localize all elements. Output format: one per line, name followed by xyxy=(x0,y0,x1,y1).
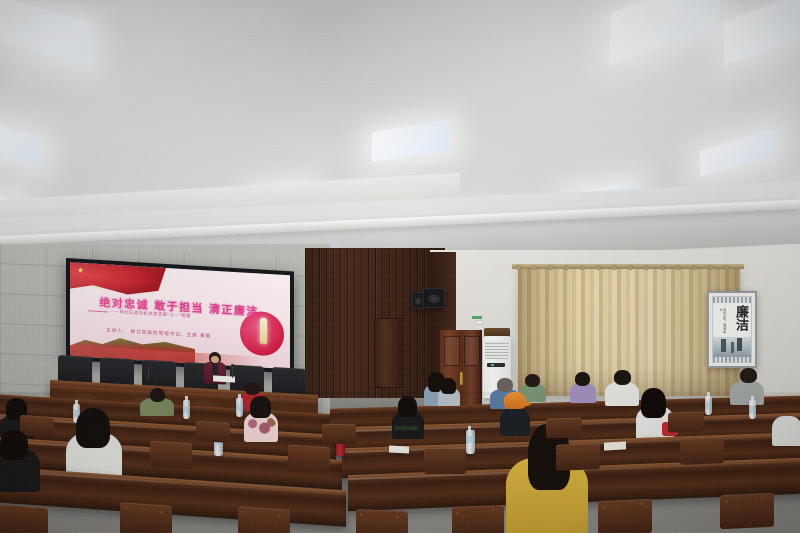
seat-back[interactable] xyxy=(598,499,652,533)
poster-landscape-image xyxy=(713,337,751,357)
seat-back[interactable] xyxy=(668,411,704,432)
person-head xyxy=(740,368,757,383)
seat-back[interactable] xyxy=(356,509,408,533)
person-hair xyxy=(441,378,456,394)
seat-row-back xyxy=(0,396,800,432)
microphone-icon xyxy=(232,366,233,378)
seat-back[interactable] xyxy=(0,504,48,533)
audience-person xyxy=(772,404,800,444)
screen-glare xyxy=(70,262,290,369)
person-head xyxy=(245,382,260,395)
led-screen-bezel[interactable]: ★ 绝对忠诚 敢于担当 清正廉洁 ——柳北区政协机关党支部"七一"党课 主讲人：… xyxy=(66,258,294,374)
exit-sign xyxy=(472,316,482,319)
seat-row-front xyxy=(0,466,800,533)
poster-main-text: 廉洁 xyxy=(734,305,746,331)
presenter-face xyxy=(211,356,219,363)
speaker-cone xyxy=(427,294,440,303)
seat-back[interactable] xyxy=(196,421,230,443)
seat-back[interactable] xyxy=(680,437,724,465)
wall-speaker-icon xyxy=(423,288,445,308)
ac-power-led-icon xyxy=(491,364,494,366)
door-panel xyxy=(464,336,480,366)
seat-back[interactable] xyxy=(424,448,466,474)
microphone-icon xyxy=(148,368,149,380)
speaker-cone xyxy=(415,297,422,305)
curtain-rod xyxy=(512,264,744,269)
seat-back[interactable] xyxy=(720,493,774,529)
seat-back[interactable] xyxy=(452,505,504,533)
seat-back[interactable] xyxy=(546,417,582,438)
person-head xyxy=(614,370,631,385)
person-head xyxy=(497,378,513,392)
wall-socket[interactable] xyxy=(476,320,483,325)
calligraphy-poster: 廉洁 清风正气 廉洁奉公 廉政文化宣传 xyxy=(707,291,757,368)
poster-bottom-border xyxy=(713,357,751,362)
side-door[interactable] xyxy=(374,318,404,388)
door-panel xyxy=(444,336,460,366)
audience-person xyxy=(0,430,40,490)
person-head xyxy=(575,372,590,386)
conference-hall-photo: ★ 绝对忠诚 敢于担当 清正廉洁 ——柳北区政协机关党支部"七一"党课 主讲人：… xyxy=(0,0,800,533)
poster-top-border xyxy=(713,297,751,303)
poster-side-text: 清风正气 廉洁奉公 xyxy=(718,308,725,336)
seat-back[interactable] xyxy=(238,506,290,533)
seat-back[interactable] xyxy=(556,443,600,471)
seat-back[interactable] xyxy=(322,424,356,445)
seat-back[interactable] xyxy=(120,502,172,533)
person-body xyxy=(772,416,800,446)
seat-back[interactable] xyxy=(288,445,330,474)
led-screen[interactable]: ★ 绝对忠诚 敢于担当 清正廉洁 ——柳北区政协机关党支部"七一"党课 主讲人：… xyxy=(70,262,290,369)
wall-speaker-icon xyxy=(412,292,424,309)
person-head xyxy=(525,374,540,387)
door-handle[interactable] xyxy=(460,372,463,385)
ac-vent-grille xyxy=(485,341,509,359)
poster-inner: 廉洁 清风正气 廉洁奉公 廉政文化宣传 xyxy=(712,296,752,363)
seat-back[interactable] xyxy=(150,441,192,470)
person-hair xyxy=(0,430,28,460)
ac-display-panel xyxy=(487,363,505,367)
